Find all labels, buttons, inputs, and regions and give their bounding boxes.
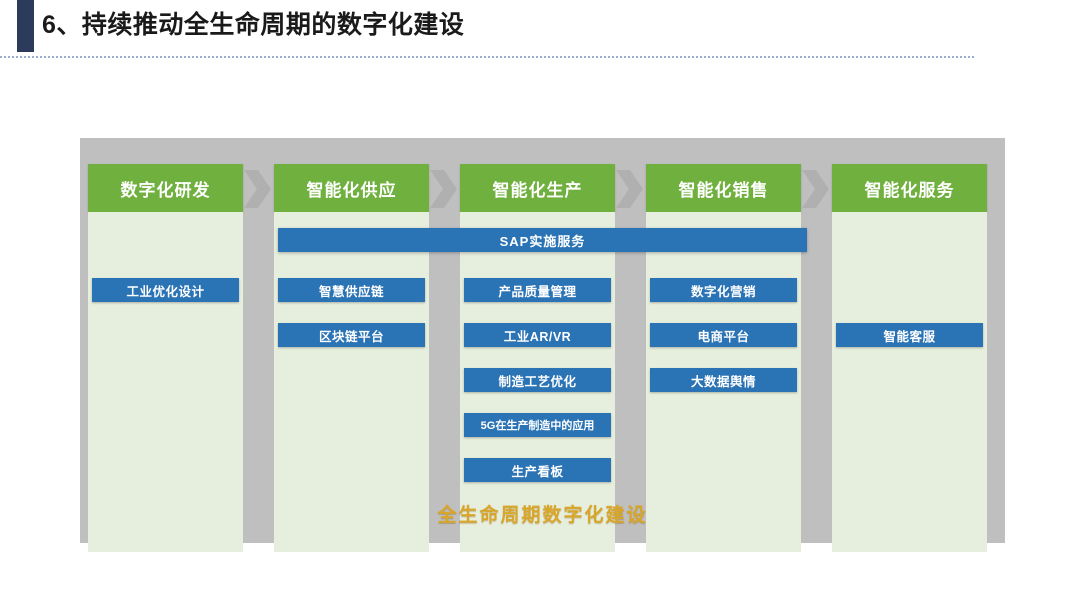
item-box[interactable]: 大数据舆情 (650, 368, 797, 392)
header-divider (0, 56, 974, 58)
item-box[interactable]: 产品质量管理 (464, 278, 611, 302)
page-title: 6、持续推动全生命周期的数字化建设 (42, 5, 464, 45)
arrow-supply-to-production-icon (430, 166, 458, 212)
column-header-1[interactable]: 数字化研发 (88, 164, 243, 212)
arrow-production-to-sales-icon (616, 166, 644, 212)
item-box[interactable]: 数字化营销 (650, 278, 797, 302)
diagram-column-1: 数字化研发工业优化设计 (88, 164, 243, 552)
column-header-2[interactable]: 智能化供应 (274, 164, 429, 212)
diagram-column-5: 智能化服务智能客服 (832, 164, 987, 552)
item-box[interactable]: 工业优化设计 (92, 278, 239, 302)
diagram-caption: 全生命周期数字化建设 (80, 500, 1005, 527)
diagram-column-2: 智能化供应智慧供应链区块链平台 (274, 164, 429, 552)
span-bar-sap[interactable]: SAP实施服务 (278, 228, 807, 252)
column-header-4[interactable]: 智能化销售 (646, 164, 801, 212)
diagram-column-4: 智能化销售数字化营销电商平台大数据舆情 (646, 164, 801, 552)
arrow-research-to-supply-icon (244, 166, 272, 212)
item-box[interactable]: 电商平台 (650, 323, 797, 347)
lifecycle-diagram-panel: 数字化研发工业优化设计智能化供应智慧供应链区块链平台智能化生产产品质量管理工业A… (80, 138, 1005, 543)
diagram-column-3: 智能化生产产品质量管理工业AR/VR制造工艺优化5G在生产制造中的应用生产看板 (460, 164, 615, 552)
column-header-5[interactable]: 智能化服务 (832, 164, 987, 212)
column-header-3[interactable]: 智能化生产 (460, 164, 615, 212)
slide-header: 6、持续推动全生命周期的数字化建设 (0, 0, 1080, 52)
arrow-sales-to-service-icon (802, 166, 830, 212)
header-accent-bar (17, 0, 34, 52)
item-box[interactable]: 5G在生产制造中的应用 (464, 413, 611, 437)
item-box[interactable]: 生产看板 (464, 458, 611, 482)
item-box[interactable]: 智慧供应链 (278, 278, 425, 302)
item-box[interactable]: 工业AR/VR (464, 323, 611, 347)
item-box[interactable]: 区块链平台 (278, 323, 425, 347)
item-box[interactable]: 制造工艺优化 (464, 368, 611, 392)
item-box[interactable]: 智能客服 (836, 323, 983, 347)
